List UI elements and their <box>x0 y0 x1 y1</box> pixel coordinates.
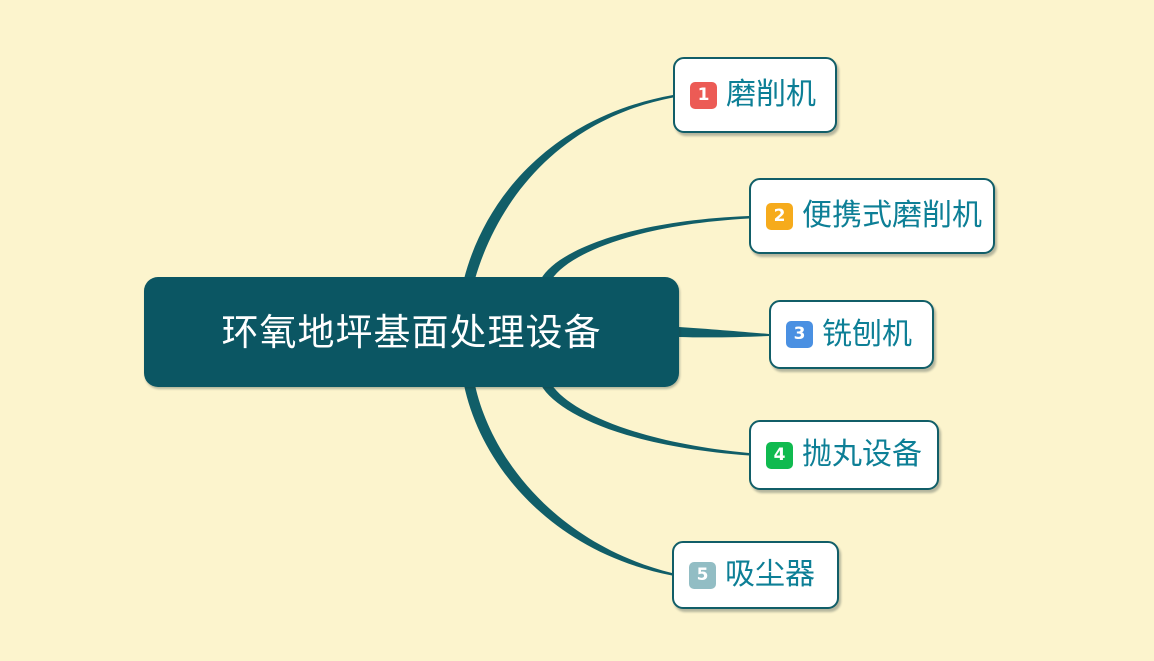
central-node-label: 环氧地坪基面处理设备 <box>222 314 602 351</box>
branch-node-1[interactable]: 1 磨削机 <box>673 57 837 133</box>
branch-label-3: 铣刨机 <box>822 320 912 350</box>
branch-label-4: 抛丸设备 <box>802 440 922 470</box>
connector-branch-1 <box>464 95 673 279</box>
branch-badge-2: 2 <box>766 203 793 230</box>
branch-badge-4: 4 <box>766 442 793 469</box>
branch-node-3[interactable]: 3 铣刨机 <box>769 300 934 369</box>
branch-node-5[interactable]: 5 吸尘器 <box>672 541 839 609</box>
branch-badge-1: 1 <box>690 82 717 109</box>
branch-node-2[interactable]: 2 便携式磨削机 <box>749 178 995 254</box>
branch-badge-5: 5 <box>689 562 716 589</box>
branch-badge-3: 3 <box>786 321 813 348</box>
branch-label-5: 吸尘器 <box>725 560 815 590</box>
branch-label-1: 磨削机 <box>726 80 816 110</box>
connector-branch-3 <box>679 327 769 337</box>
connector-branch-5 <box>464 385 672 576</box>
connector-branch-4 <box>541 385 749 456</box>
branch-node-4[interactable]: 4 抛丸设备 <box>749 420 939 490</box>
central-node[interactable]: 环氧地坪基面处理设备 <box>144 277 679 387</box>
connector-branch-2 <box>541 216 749 279</box>
branch-label-2: 便携式磨削机 <box>802 201 982 231</box>
mindmap-canvas: 环氧地坪基面处理设备 1 磨削机 2 便携式磨削机 3 铣刨机 4 抛丸设备 5… <box>0 0 1154 661</box>
